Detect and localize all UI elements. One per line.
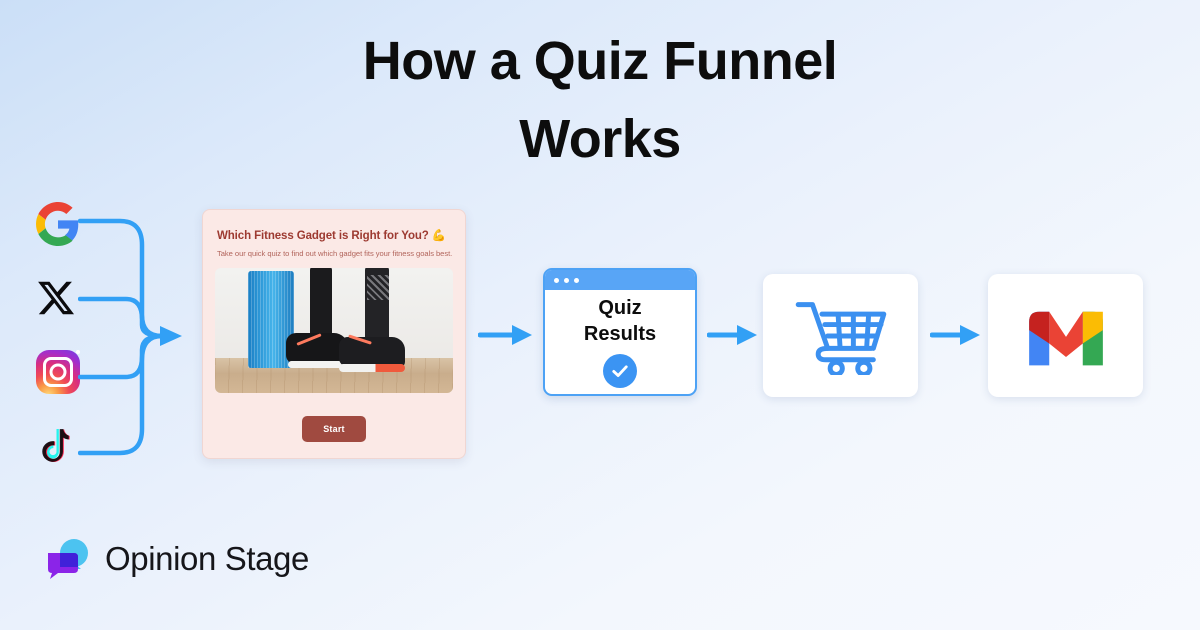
sources-merge-arrow [78, 195, 208, 485]
results-to-cart-arrow [707, 322, 759, 353]
purchase-step-card[interactable] [763, 274, 918, 397]
quiz-cover-image [215, 268, 453, 393]
google-icon [36, 202, 80, 246]
source-google[interactable] [34, 202, 82, 250]
check-badge-icon [603, 354, 637, 388]
quiz-start-button[interactable]: Start [302, 416, 366, 442]
brand-footer: Opinion Stage [44, 537, 309, 581]
window-dot-2 [564, 278, 569, 283]
traffic-sources-column [34, 200, 84, 498]
window-dot-3 [574, 278, 579, 283]
cart-to-gmail-arrow [930, 322, 982, 353]
results-title-line2: Results [584, 324, 656, 346]
quiz-results-window[interactable]: Quiz Results [543, 268, 697, 396]
quiz-to-results-arrow [478, 322, 534, 353]
opinion-stage-logo-icon [44, 537, 90, 581]
infographic-canvas: How a Quiz Funnel Works [0, 0, 1200, 630]
shopping-cart-icon [793, 297, 889, 375]
window-dot-1 [554, 278, 559, 283]
page-title-line2: Works [519, 109, 681, 169]
quiz-subtitle: Take our quick quiz to find out which ga… [217, 249, 451, 258]
source-x-twitter[interactable] [34, 276, 82, 324]
tiktok-icon [36, 424, 80, 468]
quiz-preview-card[interactable]: Which Fitness Gadget is Right for You? 💪… [202, 209, 466, 459]
source-tiktok[interactable] [34, 424, 82, 472]
quiz-question-title: Which Fitness Gadget is Right for You? 💪 [217, 228, 451, 242]
brand-name: Opinion Stage [105, 540, 309, 578]
browser-content: Quiz Results [545, 290, 695, 394]
page-title: How a Quiz Funnel Works [0, 22, 1200, 179]
page-title-line1: How a Quiz Funnel [363, 31, 838, 91]
instagram-icon [36, 350, 80, 394]
results-title-line1: Quiz [598, 298, 641, 320]
email-step-card[interactable] [988, 274, 1143, 397]
x-twitter-icon [34, 276, 78, 320]
gmail-icon [1024, 305, 1108, 367]
browser-title-bar [545, 270, 695, 290]
source-instagram[interactable] [34, 350, 82, 398]
